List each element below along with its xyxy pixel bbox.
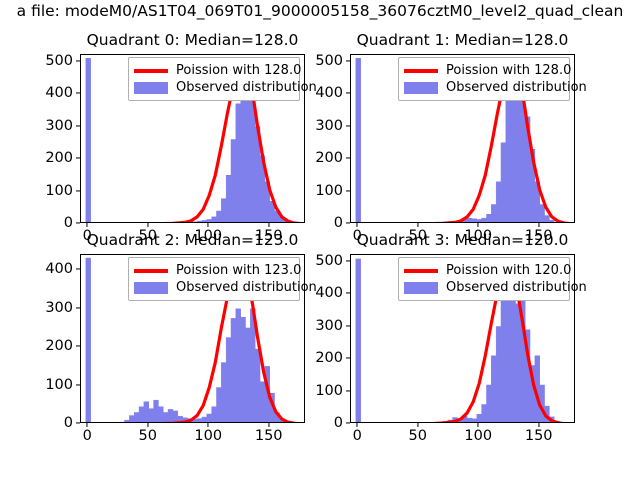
legend-entry-poisson: Poission with 128.0 xyxy=(134,62,293,79)
y-tick-mark xyxy=(346,190,350,191)
y-tick-mark xyxy=(76,346,80,347)
y-tick-mark xyxy=(346,125,350,126)
x-tick-mark xyxy=(147,423,148,427)
legend-quadrant-0[interactable]: Poission with 128.0 Observed distributio… xyxy=(128,57,300,101)
y-tick-mark xyxy=(76,307,80,308)
legend-label-poisson: Poission with 128.0 xyxy=(446,63,571,78)
legend-label-observed: Observed distribution xyxy=(176,280,317,295)
subplot-title-quadrant-1: Quadrant 1: Median=128.0 xyxy=(306,31,619,49)
line-swatch-icon xyxy=(404,69,438,73)
legend-entry-observed: Observed distribution xyxy=(404,279,563,296)
legend-entry-observed: Observed distribution xyxy=(134,79,293,96)
line-swatch-icon xyxy=(134,69,168,73)
legend-label-poisson: Poission with 120.0 xyxy=(446,263,571,278)
x-tick-mark xyxy=(268,223,269,227)
x-tick-mark xyxy=(417,423,418,427)
x-tick-mark xyxy=(208,423,209,427)
x-tick-mark xyxy=(357,223,358,227)
x-tick-mark xyxy=(538,423,539,427)
y-tick-label: 500 xyxy=(315,53,343,68)
legend-quadrant-2[interactable]: Poission with 123.0 Observed distributio… xyxy=(128,257,300,301)
patch-swatch-icon xyxy=(134,82,168,94)
y-tick-mark xyxy=(346,222,350,223)
x-tick-mark xyxy=(268,423,269,427)
y-tick-mark xyxy=(76,422,80,423)
legend-entry-poisson: Poission with 123.0 xyxy=(134,262,293,279)
x-tick-label: 100 xyxy=(194,429,222,444)
y-tick-label: 200 xyxy=(45,151,73,166)
y-tick-mark xyxy=(346,357,350,358)
y-tick-mark xyxy=(346,157,350,158)
x-tick-label: 0 xyxy=(353,429,362,444)
y-tick-label: 300 xyxy=(315,118,343,133)
figure-suptitle: a file: modeM0/AS1T04_069T01_9000005158_… xyxy=(0,2,640,20)
y-tick-label: 0 xyxy=(64,416,73,431)
y-tick-label: 300 xyxy=(45,118,73,133)
legend-quadrant-3[interactable]: Poission with 120.0 Observed distributio… xyxy=(398,257,570,301)
y-tick-mark xyxy=(76,157,80,158)
y-tick-label: 0 xyxy=(64,216,73,231)
x-tick-label: 150 xyxy=(525,429,553,444)
y-tick-label: 300 xyxy=(45,301,73,316)
y-tick-label: 200 xyxy=(315,351,343,366)
y-tick-label: 500 xyxy=(45,53,73,68)
patch-swatch-icon xyxy=(134,282,168,294)
y-tick-label: 200 xyxy=(315,151,343,166)
y-tick-label: 300 xyxy=(315,318,343,333)
x-tick-mark xyxy=(417,223,418,227)
subplot-quadrant-0: Quadrant 0: Median=128.0 Poission with 1… xyxy=(80,54,305,223)
x-tick-mark xyxy=(147,223,148,227)
subplot-title-quadrant-2: Quadrant 2: Median=123.0 xyxy=(36,231,349,249)
x-tick-mark xyxy=(538,223,539,227)
legend-entry-poisson: Poission with 120.0 xyxy=(404,262,563,279)
y-tick-mark xyxy=(346,422,350,423)
y-tick-label: 400 xyxy=(315,86,343,101)
y-tick-mark xyxy=(76,384,80,385)
line-swatch-icon xyxy=(404,269,438,273)
matplotlib-figure: a file: modeM0/AS1T04_069T01_9000005158_… xyxy=(0,0,640,480)
y-tick-label: 400 xyxy=(45,262,73,277)
x-tick-label: 150 xyxy=(255,429,283,444)
patch-swatch-icon xyxy=(404,82,438,94)
line-swatch-icon xyxy=(134,269,168,273)
y-tick-mark xyxy=(76,60,80,61)
y-tick-label: 200 xyxy=(45,339,73,354)
y-tick-label: 400 xyxy=(315,286,343,301)
legend-label-observed: Observed distribution xyxy=(446,80,587,95)
y-tick-label: 100 xyxy=(45,377,73,392)
x-tick-mark xyxy=(478,223,479,227)
x-tick-label: 0 xyxy=(83,429,92,444)
x-tick-mark xyxy=(208,223,209,227)
y-tick-mark xyxy=(346,260,350,261)
y-tick-mark xyxy=(76,222,80,223)
y-tick-mark xyxy=(346,390,350,391)
y-tick-mark xyxy=(346,92,350,93)
y-tick-label: 100 xyxy=(315,183,343,198)
y-tick-label: 0 xyxy=(334,416,343,431)
legend-entry-observed: Observed distribution xyxy=(404,79,563,96)
x-tick-mark xyxy=(478,423,479,427)
x-tick-label: 100 xyxy=(464,429,492,444)
legend-entry-poisson: Poission with 128.0 xyxy=(404,62,563,79)
y-tick-mark xyxy=(346,325,350,326)
y-tick-label: 400 xyxy=(45,86,73,101)
y-tick-mark xyxy=(76,269,80,270)
x-tick-label: 50 xyxy=(139,429,157,444)
x-tick-mark xyxy=(357,423,358,427)
y-tick-mark xyxy=(76,190,80,191)
patch-swatch-icon xyxy=(404,282,438,294)
legend-entry-observed: Observed distribution xyxy=(134,279,293,296)
y-tick-mark xyxy=(76,92,80,93)
y-tick-label: 100 xyxy=(45,183,73,198)
x-tick-mark xyxy=(87,423,88,427)
subplot-quadrant-2: Quadrant 2: Median=123.0 Poission with 1… xyxy=(80,254,305,423)
x-tick-mark xyxy=(87,223,88,227)
legend-quadrant-1[interactable]: Poission with 128.0 Observed distributio… xyxy=(398,57,570,101)
subplot-quadrant-1: Quadrant 1: Median=128.0 Poission with 1… xyxy=(350,54,575,223)
subplot-quadrant-3: Quadrant 3: Median=120.0 Poission with 1… xyxy=(350,254,575,423)
subplot-title-quadrant-0: Quadrant 0: Median=128.0 xyxy=(36,31,349,49)
legend-label-observed: Observed distribution xyxy=(176,80,317,95)
y-tick-mark xyxy=(346,60,350,61)
y-tick-label: 100 xyxy=(315,383,343,398)
legend-label-poisson: Poission with 123.0 xyxy=(176,263,301,278)
y-tick-label: 0 xyxy=(334,216,343,231)
legend-label-poisson: Poission with 128.0 xyxy=(176,63,301,78)
x-tick-label: 50 xyxy=(409,429,427,444)
y-tick-mark xyxy=(346,292,350,293)
subplot-title-quadrant-3: Quadrant 3: Median=120.0 xyxy=(306,231,619,249)
legend-label-observed: Observed distribution xyxy=(446,280,587,295)
y-tick-label: 500 xyxy=(315,253,343,268)
y-tick-mark xyxy=(76,125,80,126)
